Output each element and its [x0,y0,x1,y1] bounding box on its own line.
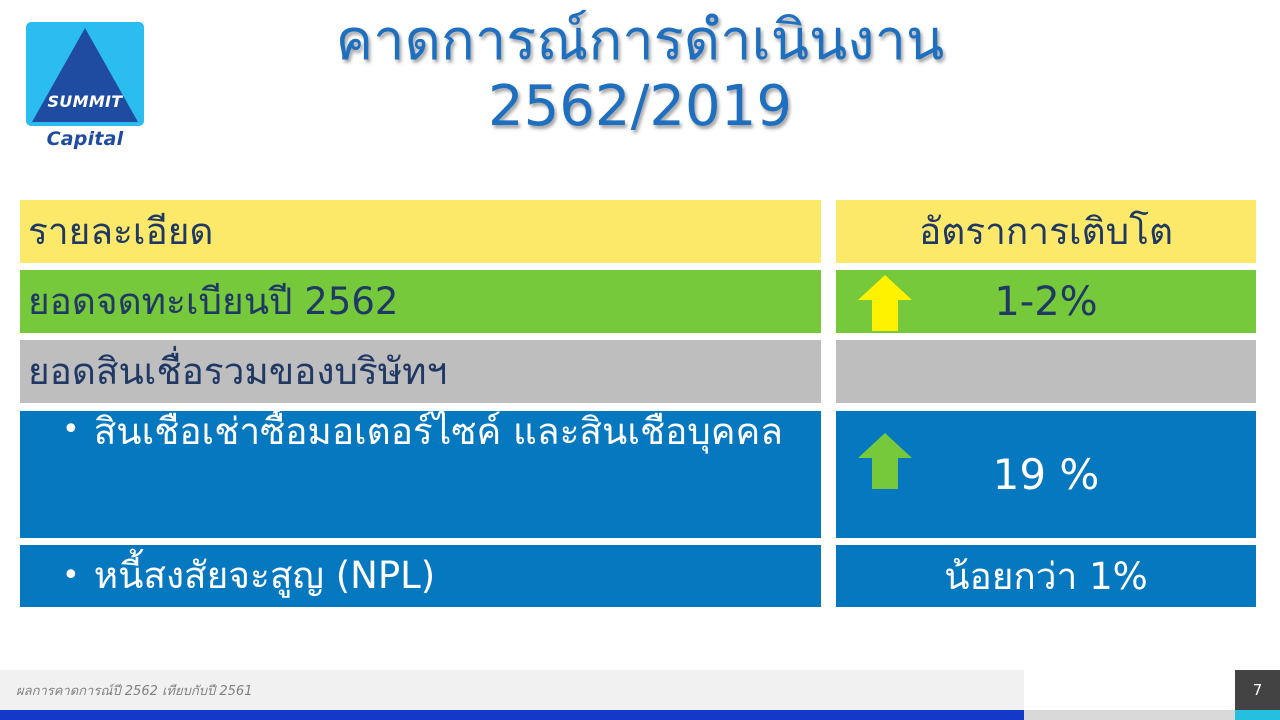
header-details-label: รายละเอียด [20,211,213,252]
logo-square: SUMMIT [26,22,144,126]
table-row-registration: ยอดจดทะเบียนปี 2562 1-2% [20,270,1256,333]
table-row-hire-purchase-loans: • สินเชื่อเช่าซื้อมอเตอร์ไซค์ และสินเชื่… [20,411,1256,538]
row-registration-label-cell: ยอดจดทะเบียนปี 2562 [20,270,821,333]
header-growth-rate-label: อัตราการเติบโต [836,202,1256,261]
row-npl-label: หนี้สงสัยจะสูญ (NPL) [94,555,436,598]
row-npl-label-cell: • หนี้สงสัยจะสูญ (NPL) [20,545,821,607]
row-registration-value-cell: 1-2% [836,270,1256,333]
logo-capital-text: Capital [26,128,144,150]
table-header-row: รายละเอียด อัตราการเติบโต [20,200,1256,263]
header-cell-growth-rate: อัตราการเติบโต [836,200,1256,263]
bullet-icon: • [62,411,80,449]
row-total-credit-label-cell: ยอดสินเชื่อรวมของบริษัทฯ [20,340,821,403]
company-logo: SUMMIT Capital [26,22,144,162]
table-row-npl: • หนี้สงสัยจะสูญ (NPL) น้อยกว่า 1% [20,545,1256,607]
table-row-total-credit: ยอดสินเชื่อรวมของบริษัทฯ [20,340,1256,403]
row-total-credit-value-cell [836,340,1256,403]
row-loans-value-cell: 19 % [836,411,1256,538]
row-npl-value-cell: น้อยกว่า 1% [836,545,1256,607]
bullet-icon: • [62,557,80,595]
arrow-up-icon [856,430,914,492]
slide-footer: ผลการคาดการณ์ปี 2562 เทียบกับปี 2561 7 [0,670,1280,720]
slide-title: คาดการณ์การดำเนินงาน 2562/2019 [180,8,1100,140]
row-registration-value: 1-2% [994,279,1097,325]
row-loans-value: 19 % [993,450,1100,499]
page-number-badge: 7 [1235,670,1280,710]
row-registration-label: ยอดจดทะเบียนปี 2562 [20,281,398,322]
footer-strip-cyan [1235,710,1280,720]
logo-summit-text: SUMMIT [26,92,144,111]
row-loans-label: สินเชื่อเช่าซื้อมอเตอร์ไซค์ และสินเชื่อบ… [94,411,783,454]
footer-white-block [1024,670,1235,710]
header-cell-details: รายละเอียด [20,200,821,263]
row-total-credit-label: ยอดสินเชื่อรวมของบริษัทฯ [20,351,447,392]
footer-strip-gray [1024,710,1235,720]
footer-strip-blue [0,710,1024,720]
arrow-up-icon [856,272,914,334]
footer-note: ผลการคาดการณ์ปี 2562 เทียบกับปี 2561 [16,680,252,701]
row-loans-label-cell: • สินเชื่อเช่าซื้อมอเตอร์ไซค์ และสินเชื่… [20,411,821,538]
forecast-table: รายละเอียด อัตราการเติบโต ยอดจดทะเบียนปี… [20,200,1256,620]
row-npl-value: น้อยกว่า 1% [944,547,1148,606]
